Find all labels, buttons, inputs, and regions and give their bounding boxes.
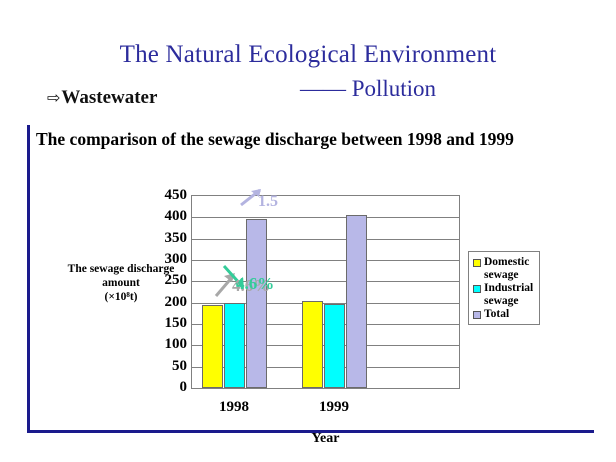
x-tick-label-1999: 1999 <box>299 399 369 416</box>
gridline <box>192 239 459 240</box>
total-growth-label: 1.5 <box>258 193 278 211</box>
bar-domestic-sewage-1999 <box>302 301 323 388</box>
y-tick-label: 150 <box>143 316 187 331</box>
legend-label: Total <box>484 308 509 321</box>
legend-label: Domestic sewage <box>484 256 536 282</box>
legend-item: Domestic sewage <box>473 256 536 282</box>
sewage-discharge-bar-chart: 450400350300250200150100500 The sewage d… <box>0 0 616 462</box>
y-tick-label: 0 <box>143 380 187 395</box>
x-axis-title: Year <box>0 431 616 447</box>
y-axis-title: The sewage discharge amount (×10⁸t) <box>56 262 186 304</box>
y-tick-label: 50 <box>143 359 187 374</box>
legend-item: Total <box>473 308 536 321</box>
bar-industrial-sewage-1999 <box>324 304 345 388</box>
legend-swatch-icon <box>473 259 481 267</box>
bar-domestic-sewage-1998 <box>202 305 223 388</box>
y-tick-label: 400 <box>143 209 187 224</box>
gridline <box>192 260 459 261</box>
gridline <box>192 217 459 218</box>
legend-swatch-icon <box>473 285 481 293</box>
legend-item: Industrial sewage <box>473 282 536 308</box>
bar-industrial-sewage-1998 <box>224 303 245 388</box>
y-tick-label: 450 <box>143 188 187 203</box>
y-axis-title-text: The sewage discharge amount <box>68 263 175 289</box>
y-tick-label: 100 <box>143 337 187 352</box>
legend-swatch-icon <box>473 311 481 319</box>
y-tick-label: 350 <box>143 231 187 246</box>
chart-legend: Domestic sewageIndustrial sewageTotal <box>468 251 540 325</box>
x-tick-label-1998: 1998 <box>199 399 269 416</box>
legend-label: Industrial sewage <box>484 282 536 308</box>
bar-total-1998 <box>246 219 267 388</box>
y-axis-unit: (×10⁸t) <box>56 290 186 304</box>
growth-percent-label: 4.6% <box>236 274 274 294</box>
bar-total-1999 <box>346 215 367 388</box>
